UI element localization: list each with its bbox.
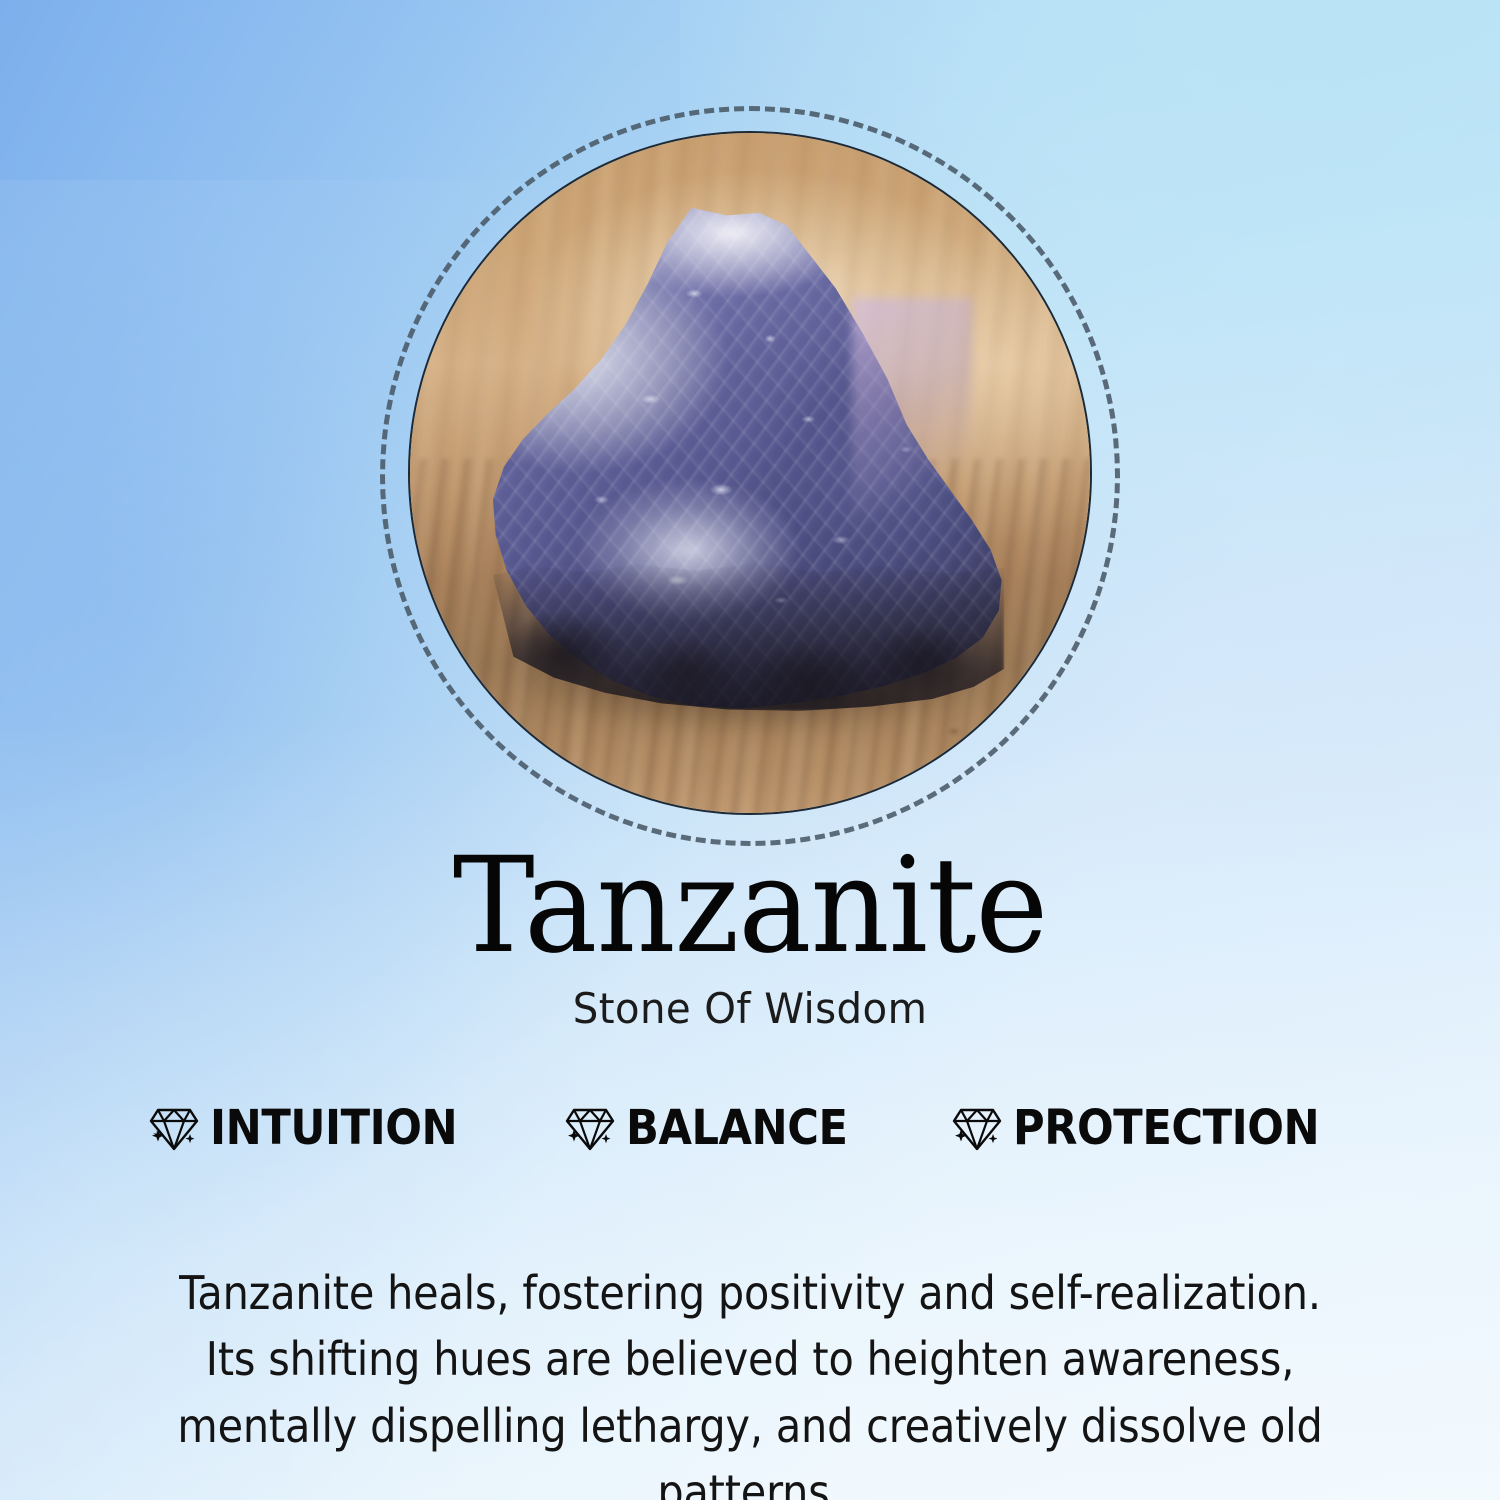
photo-inner <box>410 133 1090 813</box>
gemstone-subtitle: Stone Of Wisdom <box>30 986 1470 1032</box>
keyword-item-balance: BALANCE <box>563 1100 872 1156</box>
keyword-list: INTUITION BALANCE <box>0 1100 1500 1156</box>
keyword-label: BALANCE <box>626 1104 848 1152</box>
keyword-label: INTUITION <box>210 1104 457 1152</box>
diamond-gem-icon <box>147 1100 201 1156</box>
hero-image-area <box>408 131 1092 815</box>
keyword-item-intuition: INTUITION <box>147 1100 485 1156</box>
crystal-lilac-sliver <box>852 298 972 519</box>
content-area: Tanzanite Stone Of Wisdom INT <box>0 840 1500 1500</box>
gemstone-title: Tanzanite <box>53 840 1448 972</box>
keyword-item-protection: PROTECTION <box>950 1100 1353 1156</box>
gemstone-info-card: Tanzanite Stone Of Wisdom INT <box>0 0 1500 1500</box>
keyword-label: PROTECTION <box>1013 1104 1319 1152</box>
tanzanite-crystal <box>471 208 1015 711</box>
diamond-gem-icon <box>563 1100 617 1156</box>
crystal-dark-matrix-base <box>493 560 1004 711</box>
gemstone-photo <box>408 131 1092 815</box>
diamond-gem-icon <box>950 1100 1004 1156</box>
gemstone-description: Tanzanite heals, fostering positivity an… <box>152 1260 1349 1500</box>
